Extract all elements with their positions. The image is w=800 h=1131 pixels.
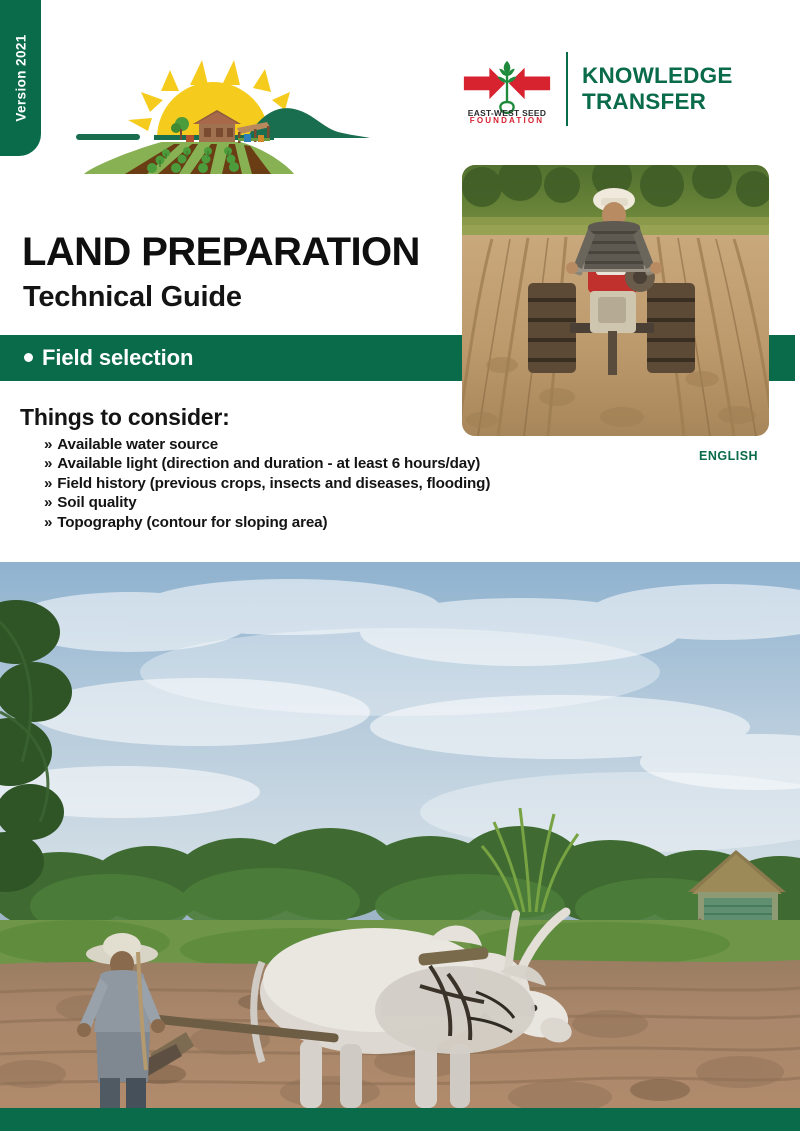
- list-item: »Soil quality: [44, 493, 564, 512]
- consider-list: »Available water source »Available light…: [44, 435, 564, 532]
- list-marker-icon: »: [44, 436, 52, 453]
- list-item: »Available water source: [44, 435, 564, 454]
- brand-block: EAST-WEST SEED FOUNDATION KNOWLEDGE TRAN…: [458, 48, 758, 130]
- footer-bar: [0, 1108, 800, 1131]
- knowledge-transfer-line1: KNOWLEDGE: [582, 63, 733, 89]
- language-tag: ENGLISH: [699, 449, 758, 463]
- consider-heading: Things to consider:: [20, 404, 230, 431]
- topic-label: Field selection: [24, 345, 193, 371]
- page-title: LAND PREPARATION: [22, 232, 420, 272]
- list-marker-icon: »: [44, 455, 52, 472]
- tractor-photo: [462, 165, 769, 436]
- document-page: Version 2021: [0, 0, 800, 1131]
- farm-illustration-logo: [62, 52, 372, 177]
- east-west-seed-foundation-logo: EAST-WEST SEED FOUNDATION: [458, 55, 556, 124]
- list-marker-icon: »: [44, 494, 52, 511]
- list-item-label: Field history (previous crops, insects a…: [57, 475, 490, 492]
- topic-band: Field selection: [0, 335, 463, 381]
- bullet-icon: [24, 353, 33, 362]
- version-label: Version 2021: [13, 34, 28, 121]
- list-item-label: Soil quality: [57, 494, 136, 511]
- svg-text:FOUNDATION: FOUNDATION: [470, 116, 544, 123]
- list-item: »Topography (contour for sloping area): [44, 513, 564, 532]
- brand-divider: [566, 52, 568, 126]
- list-item: »Available light (direction and duration…: [44, 454, 564, 473]
- knowledge-transfer-line2: TRANSFER: [582, 89, 733, 115]
- list-item: »Field history (previous crops, insects …: [44, 474, 564, 493]
- knowledge-transfer-wordmark: KNOWLEDGE TRANSFER: [582, 63, 733, 115]
- version-tab: Version 2021: [0, 0, 41, 156]
- oxen-plowing-photo: [0, 562, 800, 1108]
- list-marker-icon: »: [44, 514, 52, 531]
- list-item-label: Available light (direction and duration …: [57, 455, 480, 472]
- list-marker-icon: »: [44, 475, 52, 492]
- list-item-label: Topography (contour for sloping area): [57, 514, 327, 531]
- list-item-label: Available water source: [57, 436, 218, 453]
- page-subtitle: Technical Guide: [23, 283, 242, 312]
- topic-label-text: Field selection: [42, 345, 193, 370]
